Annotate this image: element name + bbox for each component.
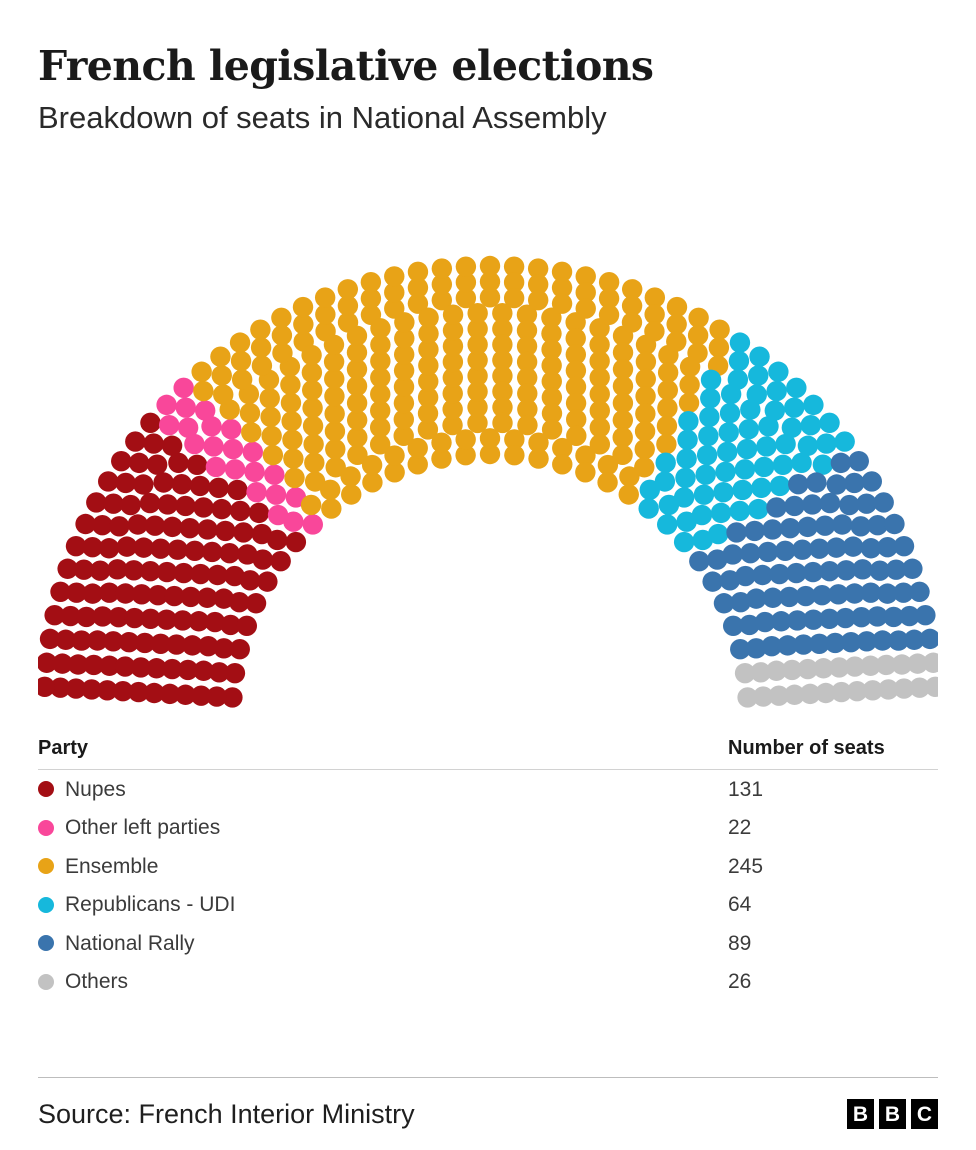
seat-dot <box>517 415 537 435</box>
seat-dot <box>324 403 344 423</box>
seat-dot <box>284 468 304 488</box>
legend-label-cell: Ensemble <box>38 856 728 877</box>
seat-dot <box>737 439 757 459</box>
legend-swatch-icon <box>38 897 54 913</box>
legend-seat-count: 26 <box>728 971 938 992</box>
seat-dot <box>831 453 851 473</box>
legend-seat-count: 245 <box>728 856 938 877</box>
seat-dot <box>920 629 938 649</box>
seat-dot <box>612 445 632 465</box>
seat-dot <box>384 266 404 286</box>
seat-dot <box>635 421 655 441</box>
legend-row: Other left parties22 <box>38 808 938 847</box>
seat-dot <box>301 345 321 365</box>
seat-dot <box>698 426 718 446</box>
seat-dot <box>195 400 215 420</box>
seat-dot <box>193 497 213 517</box>
seat-dot <box>227 480 247 500</box>
seat-dot <box>249 503 269 523</box>
seat-dot <box>599 304 619 324</box>
seat-dot <box>590 434 610 454</box>
seat-dot <box>709 319 729 339</box>
seat-dot <box>740 399 760 419</box>
page-subtitle: Breakdown of seats in National Assembly <box>38 100 938 136</box>
seat-dot <box>634 457 654 477</box>
seat-dot <box>719 422 739 442</box>
seat-dot <box>575 462 595 482</box>
seat-dot <box>700 388 720 408</box>
seat-dot <box>244 462 264 482</box>
seat-dot <box>678 411 698 431</box>
seat-dot <box>699 407 719 427</box>
seat-dot <box>803 395 823 415</box>
seat-dot <box>187 454 207 474</box>
seat-dot <box>635 439 655 459</box>
seat-dot <box>739 419 759 439</box>
seat-dot <box>802 494 822 514</box>
seat-dot <box>726 522 746 542</box>
seat-dot <box>212 499 232 519</box>
seat-dot <box>679 374 699 394</box>
seat-dot <box>658 362 678 382</box>
legend-header-row: Party Number of seats <box>38 737 938 770</box>
seat-dot <box>173 378 193 398</box>
seat-dot <box>480 256 500 276</box>
seat-dot <box>111 451 131 471</box>
seat-dot <box>689 551 709 571</box>
legend-party-name: Nupes <box>65 779 126 800</box>
seat-dot <box>266 484 286 504</box>
chart-footer: Source: French Interior Ministry BBC <box>38 1077 938 1150</box>
seat-dot <box>286 532 306 552</box>
seat-dot <box>786 378 806 398</box>
seat-dot <box>243 442 263 462</box>
seat-dot <box>758 542 778 562</box>
seat-dot <box>219 543 239 563</box>
seat-dot <box>230 332 250 352</box>
seat-dot <box>408 438 428 458</box>
bbc-logo-block-3: C <box>911 1099 938 1129</box>
seat-dot <box>302 362 322 382</box>
seat-dot <box>443 304 463 324</box>
seat-dot <box>301 495 321 515</box>
seat-dot <box>325 439 345 459</box>
seat-dot <box>120 495 140 515</box>
seat-dot <box>770 476 790 496</box>
seat-dot <box>756 436 776 456</box>
seat-dot <box>873 492 893 512</box>
seat-dot <box>542 419 562 439</box>
seat-dot <box>740 543 760 563</box>
seat-dot <box>695 464 715 484</box>
seat-dot <box>159 415 179 435</box>
seat-dot <box>751 478 771 498</box>
seat-dot <box>762 519 782 539</box>
seat-dot <box>657 514 677 534</box>
legend-row: Ensemble245 <box>38 847 938 886</box>
legend-table: Party Number of seats Nupes131Other left… <box>38 737 938 1001</box>
legend-party-name: Other left parties <box>65 817 220 838</box>
seat-dot <box>99 538 119 558</box>
chart-header: French legislative elections Breakdown o… <box>38 0 938 136</box>
legend-swatch-icon <box>38 974 54 990</box>
seat-dot <box>692 505 712 525</box>
seat-dot <box>418 307 438 327</box>
seat-dot <box>813 454 833 474</box>
seat-dot <box>172 474 192 494</box>
legend-row: Republicans - UDI64 <box>38 885 938 924</box>
seat-dot <box>202 542 222 562</box>
seat-dot <box>862 471 882 491</box>
seat-dot <box>788 474 808 494</box>
seat-dot <box>324 334 344 354</box>
seat-dot <box>679 393 699 413</box>
legend-swatch-icon <box>38 820 54 836</box>
seat-dot <box>784 397 804 417</box>
legend-label-cell: Others <box>38 971 728 992</box>
seat-dot <box>674 487 694 507</box>
seat-dot <box>713 482 733 502</box>
seat-dot <box>361 272 381 292</box>
seat-dot <box>264 464 284 484</box>
bbc-logo-block-2: B <box>879 1099 906 1129</box>
seat-dot <box>178 417 198 437</box>
seat-dot <box>773 454 793 474</box>
seat-dot <box>303 514 323 534</box>
seat-dot <box>246 593 266 613</box>
seat-dot <box>193 381 213 401</box>
seat-dot <box>240 570 260 590</box>
seat-dot <box>233 522 253 542</box>
seat-dot <box>143 433 163 453</box>
seat-dot <box>780 518 800 538</box>
seat-dot <box>431 432 451 452</box>
page-title: French legislative elections <box>38 44 938 88</box>
seat-dot <box>125 431 145 451</box>
legend-label-cell: Nupes <box>38 779 728 800</box>
seat-dot <box>688 307 708 327</box>
seat-dot <box>153 472 173 492</box>
seat-dot <box>722 544 742 564</box>
seat-dot <box>362 455 382 475</box>
seat-dot <box>267 530 287 550</box>
parliament-arc-svg <box>38 152 938 737</box>
seat-dot <box>735 459 755 479</box>
seat-dot <box>185 541 205 561</box>
seat-dot <box>180 518 200 538</box>
legend-label-cell: Republicans - UDI <box>38 894 728 915</box>
seat-dot <box>315 287 335 307</box>
legend-swatch-icon <box>38 781 54 797</box>
seat-dot <box>675 468 695 488</box>
seat-dot <box>156 395 176 415</box>
seat-dot <box>321 498 341 518</box>
seat-dot <box>766 381 786 401</box>
seat-dot <box>260 407 280 427</box>
seat-dot <box>832 514 852 534</box>
legend-party-name: Republicans - UDI <box>65 894 235 915</box>
seat-dot <box>303 416 323 436</box>
source-attribution: Source: French Interior Ministry <box>38 1101 415 1128</box>
legend-party-name: National Rally <box>65 933 195 954</box>
seat-dot <box>98 471 118 491</box>
seat-dot <box>231 351 251 371</box>
seat-dot <box>754 457 774 477</box>
seat-dot <box>241 422 261 442</box>
seat-dot <box>748 365 768 385</box>
legend-seat-count: 22 <box>728 817 938 838</box>
seat-dot <box>613 427 633 447</box>
seat-dot <box>208 478 228 498</box>
seat-dot <box>260 388 280 408</box>
legend-seat-count: 64 <box>728 894 938 915</box>
seat-dot <box>206 457 226 477</box>
legend-party-name: Others <box>65 971 128 992</box>
seat-dot <box>749 346 769 366</box>
legend-swatch-icon <box>38 858 54 874</box>
seat-dot <box>140 413 160 433</box>
seat-dot <box>597 472 617 492</box>
seat-dot <box>492 413 512 433</box>
seat-dot <box>720 403 740 423</box>
seat-dot <box>250 319 270 339</box>
seat-dot <box>456 256 476 276</box>
seat-dot <box>528 448 548 468</box>
parliament-chart <box>38 152 938 737</box>
seat-dot <box>210 346 230 366</box>
seat-dot <box>657 416 677 436</box>
seat-dot <box>909 582 929 602</box>
seat-dot <box>176 397 196 417</box>
seat-dot <box>820 493 840 513</box>
seat-dot <box>697 445 717 465</box>
seat-dot <box>730 501 750 521</box>
seat-dot <box>175 496 195 516</box>
infographic-page: French legislative elections Breakdown o… <box>0 0 976 1150</box>
seat-dot <box>819 413 839 433</box>
seat-dot <box>140 493 160 513</box>
seat-dot <box>884 514 904 534</box>
seat-dot <box>197 519 217 539</box>
seat-dot <box>272 343 292 363</box>
seat-dot <box>282 430 302 450</box>
seat-dot <box>370 318 390 338</box>
seat-dot <box>730 332 750 352</box>
seat-dot <box>237 616 257 636</box>
seat-dot <box>688 325 708 345</box>
seat-dot <box>246 482 266 502</box>
legend-label-cell: Other left parties <box>38 817 728 838</box>
seat-dot <box>674 532 694 552</box>
seat-dot <box>162 435 182 455</box>
seat-dot <box>576 298 596 318</box>
seat-dot <box>340 466 360 486</box>
seat-dot <box>732 480 752 500</box>
legend-row: National Rally89 <box>38 924 938 963</box>
seat-dot <box>384 445 404 465</box>
seat-dot <box>784 496 804 516</box>
seat-dot <box>223 439 243 459</box>
seat-dot <box>638 498 658 518</box>
seat-dot <box>729 351 749 371</box>
seat-dot <box>748 499 768 519</box>
seat-dot <box>338 279 358 299</box>
seat-dot <box>304 452 324 472</box>
seat-dot <box>232 369 252 389</box>
seat-dot <box>676 448 696 468</box>
seat-dot <box>644 321 664 341</box>
seat-dot <box>635 386 655 406</box>
seat-dot <box>230 501 250 521</box>
seat-dot <box>272 325 292 345</box>
legend-seat-count: 89 <box>728 933 938 954</box>
seat-dot <box>225 663 245 683</box>
seat-dot <box>190 476 210 496</box>
seat-dot <box>145 515 165 535</box>
seat-dot <box>271 307 291 327</box>
seat-dot <box>658 380 678 400</box>
seat-dot <box>701 370 721 390</box>
seat-dot <box>894 536 914 556</box>
seat-dot <box>680 357 700 377</box>
seat-dot <box>711 503 731 523</box>
seat-dot <box>915 605 935 625</box>
seat-dot <box>302 380 322 400</box>
seat-dot <box>843 536 863 556</box>
seat-dot <box>768 361 788 381</box>
legend-column-seats: Number of seats <box>728 737 938 760</box>
seat-dot <box>325 421 345 441</box>
seat-dot <box>656 434 676 454</box>
seat-dot <box>115 473 135 493</box>
seat-dot <box>504 288 524 308</box>
seat-dot <box>394 312 414 332</box>
seat-dot <box>844 473 864 493</box>
seat-dot <box>721 384 741 404</box>
legend-rows: Nupes131Other left parties22Ensemble245R… <box>38 770 938 1001</box>
seat-dot <box>203 436 223 456</box>
legend-party-name: Ensemble <box>65 856 158 877</box>
seat-dot <box>281 393 301 413</box>
seat-dot <box>240 403 260 423</box>
seat-dot <box>215 521 235 541</box>
seat-dot <box>775 434 795 454</box>
seat-dot <box>283 511 303 531</box>
seat-dot <box>622 312 642 332</box>
seat-dot <box>432 258 452 278</box>
bbc-logo: BBC <box>847 1099 938 1129</box>
seat-dot <box>263 445 283 465</box>
seat-dot <box>252 355 272 375</box>
seat-dot <box>702 571 722 591</box>
seat-dot <box>797 517 817 537</box>
seat-dot <box>283 448 303 468</box>
seat-dot <box>717 442 737 462</box>
seat-dot <box>566 426 586 446</box>
legend-column-party: Party <box>38 737 728 760</box>
seat-dot <box>281 411 301 431</box>
seat-dot <box>677 430 697 450</box>
legend-swatch-icon <box>38 935 54 951</box>
seat-dot <box>320 480 340 500</box>
legend-row: Others26 <box>38 962 938 1001</box>
seat-dot <box>504 445 524 465</box>
seat-dot <box>341 484 361 504</box>
seat-dot <box>849 451 869 471</box>
seat-dot <box>221 419 241 439</box>
seat-dot <box>744 521 764 541</box>
seat-dot <box>708 524 728 544</box>
legend-seat-count: 131 <box>728 779 938 800</box>
seat-dot <box>657 398 677 418</box>
seat-dot <box>806 472 826 492</box>
seat-dot <box>455 429 475 449</box>
seat-dot <box>230 639 250 659</box>
seat-dot <box>109 516 129 536</box>
seat-dot <box>666 331 686 351</box>
seat-dot <box>147 454 167 474</box>
seat-dot <box>162 517 182 537</box>
seat-dot <box>655 471 675 491</box>
seat-dot <box>552 454 572 474</box>
seat-dot <box>302 398 322 418</box>
seat-dot <box>834 431 854 451</box>
seat-dot <box>816 433 836 453</box>
seat-dot <box>408 262 428 282</box>
seat-dot <box>758 416 778 436</box>
seat-dot <box>191 361 211 381</box>
seat-dot <box>261 426 281 446</box>
seat-dot <box>902 558 922 578</box>
seat-dot <box>157 494 177 514</box>
seat-dot <box>655 452 675 472</box>
seat-dot <box>212 365 232 385</box>
seat-dot <box>766 497 786 517</box>
seat-dot <box>257 571 277 591</box>
seat-dot <box>280 374 300 394</box>
seat-dot <box>270 551 290 571</box>
seat-dot <box>347 326 367 346</box>
seat-dot <box>619 484 639 504</box>
seat-dot <box>528 290 548 310</box>
seat-dot <box>293 297 313 317</box>
seat-dot <box>225 459 245 479</box>
seat-dot <box>253 549 273 569</box>
seat-dot <box>251 337 271 357</box>
seat-dot <box>213 384 233 404</box>
legend-row: Nupes131 <box>38 770 938 809</box>
seat-dot <box>715 462 735 482</box>
seat-dot <box>709 337 729 357</box>
seat-dot <box>791 452 811 472</box>
bbc-logo-block-1: B <box>847 1099 874 1129</box>
seat-dot <box>303 434 323 454</box>
seat-dot <box>129 453 149 473</box>
seat-dot <box>694 484 714 504</box>
seat-dot <box>801 415 821 435</box>
seat-dot <box>635 403 655 423</box>
seat-dot <box>552 293 572 313</box>
legend-label-cell: National Rally <box>38 933 728 954</box>
seat-dot <box>133 474 153 494</box>
seat-dot <box>826 474 846 494</box>
